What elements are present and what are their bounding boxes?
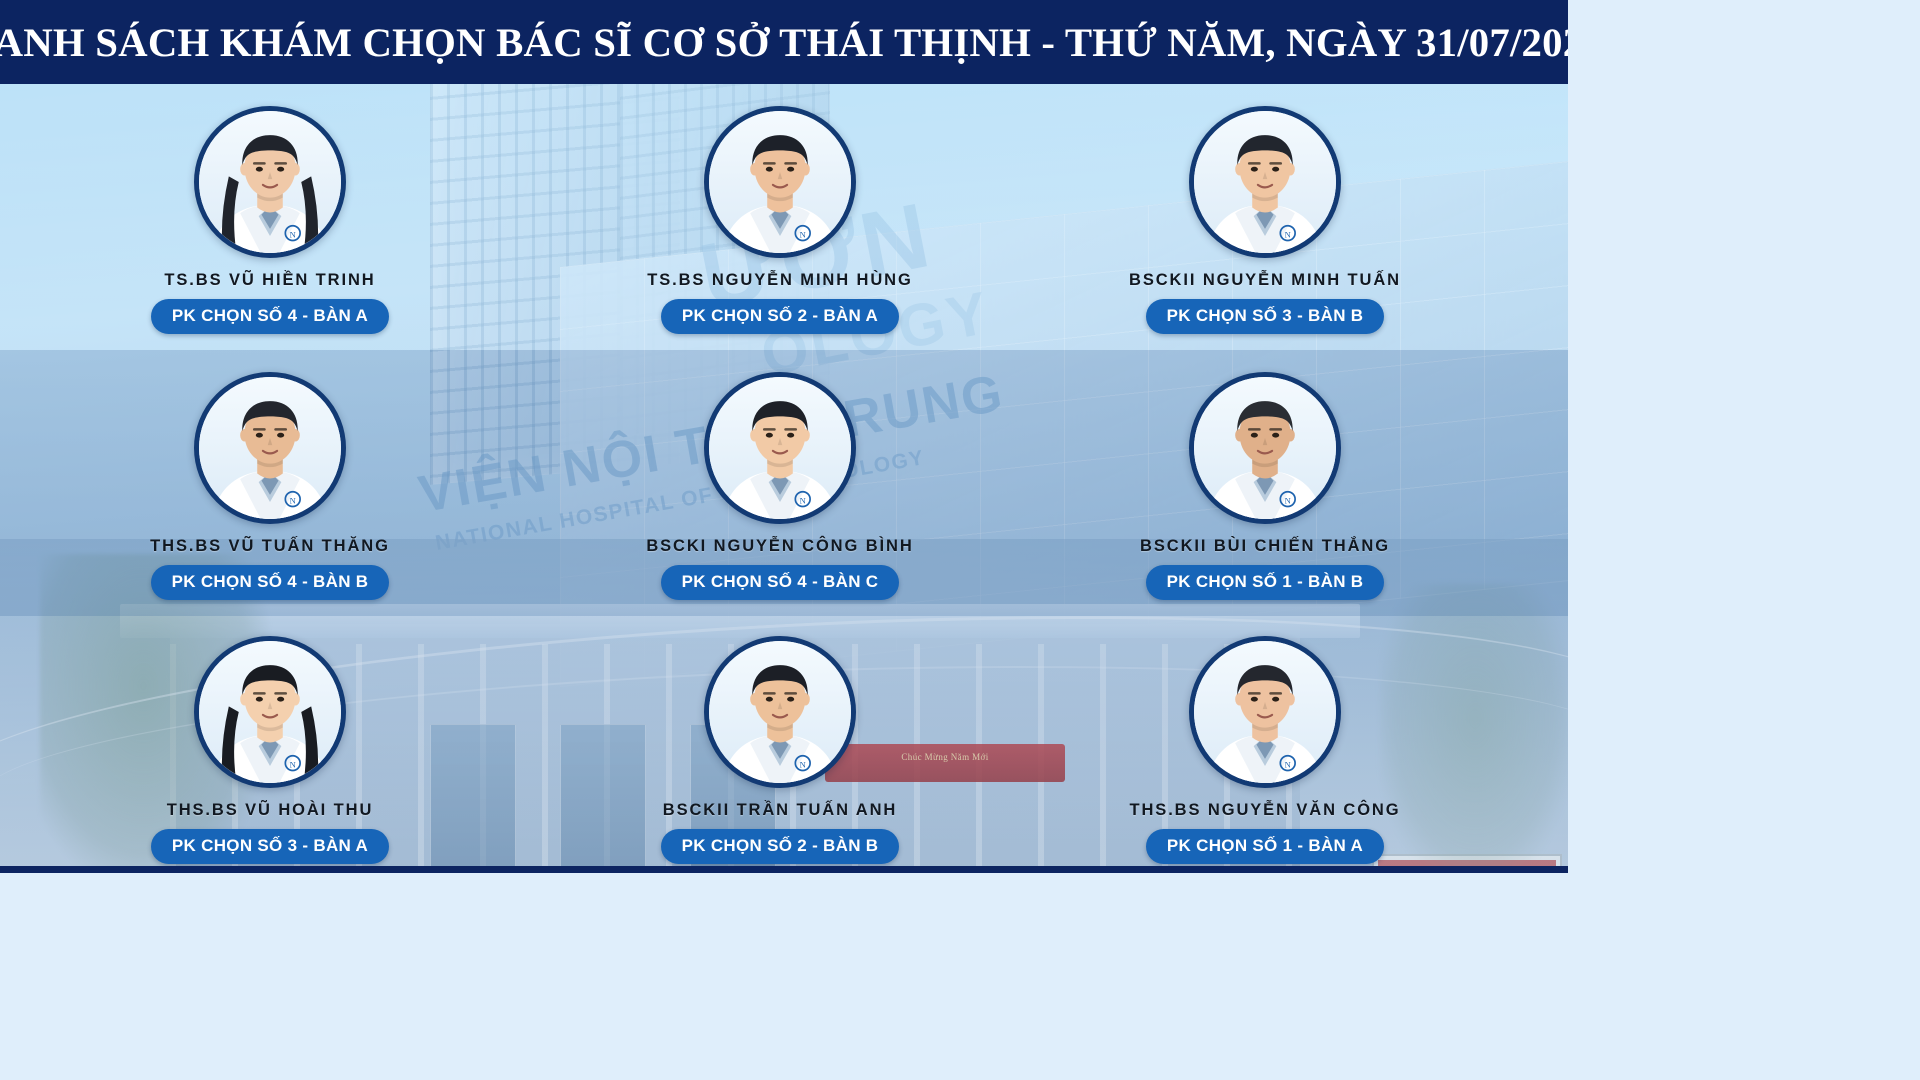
doctor-room-badge: PK CHỌN SỐ 3 - BÀN B [1146,299,1385,334]
doctor-name: BSCKII TRẦN TUẤN ANH [663,801,897,820]
doctor-avatar: N [194,106,346,258]
doctor-room-badge: PK CHỌN SỐ 1 - BÀN A [1146,829,1384,864]
doctor-card[interactable]: N THS.BS NGUYỄN VĂN CÔNG PK CHỌN SỐ 1 - … [1100,636,1430,864]
svg-text:N: N [800,229,806,239]
doctor-card[interactable]: N THS.BS VŨ HOÀI THU PK CHỌN SỐ 3 - BÀN … [105,636,435,864]
doctor-name: TS.BS VŨ HIỀN TRINH [164,271,375,290]
page-title: DANH SÁCH KHÁM CHỌN BÁC SĨ CƠ SỞ THÁI TH… [0,19,1568,66]
doctor-name: THS.BS VŨ TUẤN THĂNG [150,537,390,556]
svg-text:N: N [1285,229,1291,239]
doctor-name: THS.BS NGUYỄN VĂN CÔNG [1130,801,1401,820]
doctor-room-badge: PK CHỌN SỐ 2 - BÀN A [661,299,899,334]
svg-text:N: N [1285,495,1291,505]
poster-root: ƯƠN OLOGY VIỆN NỘI TIẾT TRUNG NATIONAL H… [0,0,1568,873]
doctor-avatar: N [704,372,856,524]
doctor-room-badge: PK CHỌN SỐ 4 - BÀN B [151,565,390,600]
doctor-name: THS.BS VŨ HOÀI THU [167,801,374,820]
svg-text:N: N [800,759,806,769]
doctor-room-badge: PK CHỌN SỐ 4 - BÀN A [151,299,389,334]
doctor-card[interactable]: N THS.BS VŨ TUẤN THĂNG PK CHỌN SỐ 4 - BÀ… [105,372,435,600]
doctor-name: BSCKII BÙI CHIẾN THẮNG [1140,537,1390,556]
doctor-avatar: N [194,372,346,524]
doctor-room-badge: PK CHỌN SỐ 1 - BÀN B [1146,565,1385,600]
doctor-card[interactable]: N BSCKII NGUYỄN MINH TUẤN PK CHỌN SỐ 3 -… [1100,106,1430,334]
doctor-card[interactable]: N BSCKII TRẦN TUẤN ANH PK CHỌN SỐ 2 - BÀ… [615,636,945,864]
svg-text:N: N [800,495,806,505]
doctor-room-badge: PK CHỌN SỐ 2 - BÀN B [661,829,900,864]
doctor-room-badge: PK CHỌN SỐ 4 - BÀN C [661,565,900,600]
doctor-grid: N TS.BS VŨ HIỀN TRINH PK CHỌN SỐ 4 - BÀN… [0,84,1568,873]
footer-strip [0,866,1568,873]
doctor-avatar: N [1189,372,1341,524]
doctor-name: BSCKII NGUYỄN MINH TUẤN [1129,271,1401,290]
doctor-card[interactable]: N TS.BS VŨ HIỀN TRINH PK CHỌN SỐ 4 - BÀN… [105,106,435,334]
doctor-avatar: N [704,636,856,788]
doctor-card[interactable]: N BSCKII BÙI CHIẾN THẮNG PK CHỌN SỐ 1 - … [1100,372,1430,600]
doctor-avatar: N [704,106,856,258]
doctor-room-badge: PK CHỌN SỐ 3 - BÀN A [151,829,389,864]
svg-text:N: N [290,495,296,505]
doctor-card[interactable]: N TS.BS NGUYỄN MINH HÙNG PK CHỌN SỐ 2 - … [615,106,945,334]
svg-text:N: N [290,229,296,239]
doctor-card[interactable]: N BSCKI NGUYỄN CÔNG BÌNH PK CHỌN SỐ 4 - … [615,372,945,600]
svg-text:N: N [1285,759,1291,769]
doctor-avatar: N [1189,106,1341,258]
doctor-avatar: N [194,636,346,788]
doctor-name: TS.BS NGUYỄN MINH HÙNG [647,271,912,290]
svg-text:N: N [290,759,296,769]
doctor-name: BSCKI NGUYỄN CÔNG BÌNH [646,537,913,556]
doctor-avatar: N [1189,636,1341,788]
header-bar: DANH SÁCH KHÁM CHỌN BÁC SĨ CƠ SỞ THÁI TH… [0,0,1568,84]
